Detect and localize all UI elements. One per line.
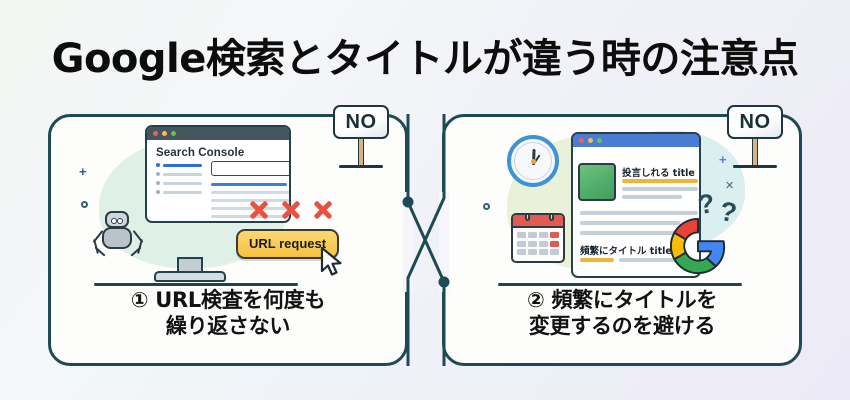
window-titlebar (573, 134, 699, 147)
result-line (580, 211, 698, 215)
result-heading (211, 183, 287, 186)
no-sign-label: NO (727, 105, 783, 139)
sidebar-item-label (163, 173, 202, 176)
caption-line-2: 繰り返さない (48, 314, 408, 340)
bot-head (105, 211, 129, 228)
page-title: Google検索とタイトルが違う時の注意点 (0, 26, 850, 84)
result-thumbnail (578, 163, 616, 201)
result-line (211, 191, 291, 194)
sign-base (339, 165, 383, 168)
ring-mark-icon (483, 203, 490, 210)
clock-icon (507, 135, 559, 187)
desk-line (498, 283, 742, 286)
result-underline (622, 179, 698, 183)
caption-line-1: ① URL検査を何度も (48, 288, 408, 314)
sidebar-item[interactable] (156, 181, 202, 185)
calendar-icon (511, 213, 565, 263)
calendar-header (513, 215, 563, 228)
serp-result-title-2[interactable]: 頻繁にタイトル title (580, 243, 672, 257)
result-line (622, 195, 682, 199)
calendar-grid (513, 228, 563, 259)
serp-result-title-1[interactable]: 投言しれる title (622, 165, 695, 179)
window-minimize-dot[interactable] (162, 131, 167, 136)
clock-center-pin (531, 159, 536, 164)
mouse-pointer-icon (319, 247, 345, 277)
no-sign-right: NO (723, 105, 787, 171)
console-sidebar[interactable] (156, 163, 202, 199)
bullet-icon (156, 172, 160, 176)
plus-mark-icon: + (79, 165, 87, 178)
google-g-logo (667, 215, 729, 277)
window-maximize-dot[interactable] (597, 138, 602, 143)
sidebar-item[interactable] (156, 190, 202, 194)
ring-mark-icon (81, 201, 88, 208)
result-underline (580, 258, 614, 262)
sidebar-item-label (163, 182, 202, 185)
caption-panel-1: ① URL検査を何度も 繰り返さない (48, 288, 408, 339)
no-sign-left: NO (329, 105, 393, 171)
url-inspection-input[interactable]: ⚲ (211, 161, 291, 176)
cross-mark-icon: ✕ (725, 181, 734, 192)
sidebar-item[interactable] (156, 163, 202, 167)
bullet-icon (156, 181, 160, 185)
browser-app-title: Search Console (147, 140, 289, 159)
caption-line-2: 変更するのを避ける (442, 314, 802, 340)
bot-body (102, 227, 132, 249)
sidebar-item[interactable] (156, 172, 202, 176)
monitor-base (154, 271, 226, 282)
search-icon[interactable]: ⚲ (289, 161, 291, 176)
sign-base (733, 165, 777, 168)
sidebar-item-label (163, 164, 202, 167)
caption-line-1: ② 頻繁にタイトルを (442, 288, 802, 314)
sidebar-item-label (163, 191, 202, 194)
calendar-ring (525, 213, 530, 221)
bot-eye-right (117, 218, 123, 224)
window-close-dot[interactable] (153, 131, 158, 136)
calendar-ring (549, 213, 554, 221)
x-mark-icon (248, 199, 270, 221)
desk-line (94, 283, 298, 286)
bullet-icon (156, 190, 160, 194)
x-mark-icon (312, 199, 334, 221)
no-sign-label: NO (333, 105, 389, 139)
spider-bot-icon (89, 209, 147, 257)
result-line (622, 187, 698, 191)
window-close-dot[interactable] (579, 138, 584, 143)
window-titlebar (147, 127, 289, 140)
x-mark-icon (280, 199, 302, 221)
bullet-icon (156, 163, 160, 167)
window-minimize-dot[interactable] (588, 138, 593, 143)
window-maximize-dot[interactable] (171, 131, 176, 136)
result-line (580, 221, 680, 225)
caption-panel-2: ② 頻繁にタイトルを 変更するのを避ける (442, 288, 802, 339)
